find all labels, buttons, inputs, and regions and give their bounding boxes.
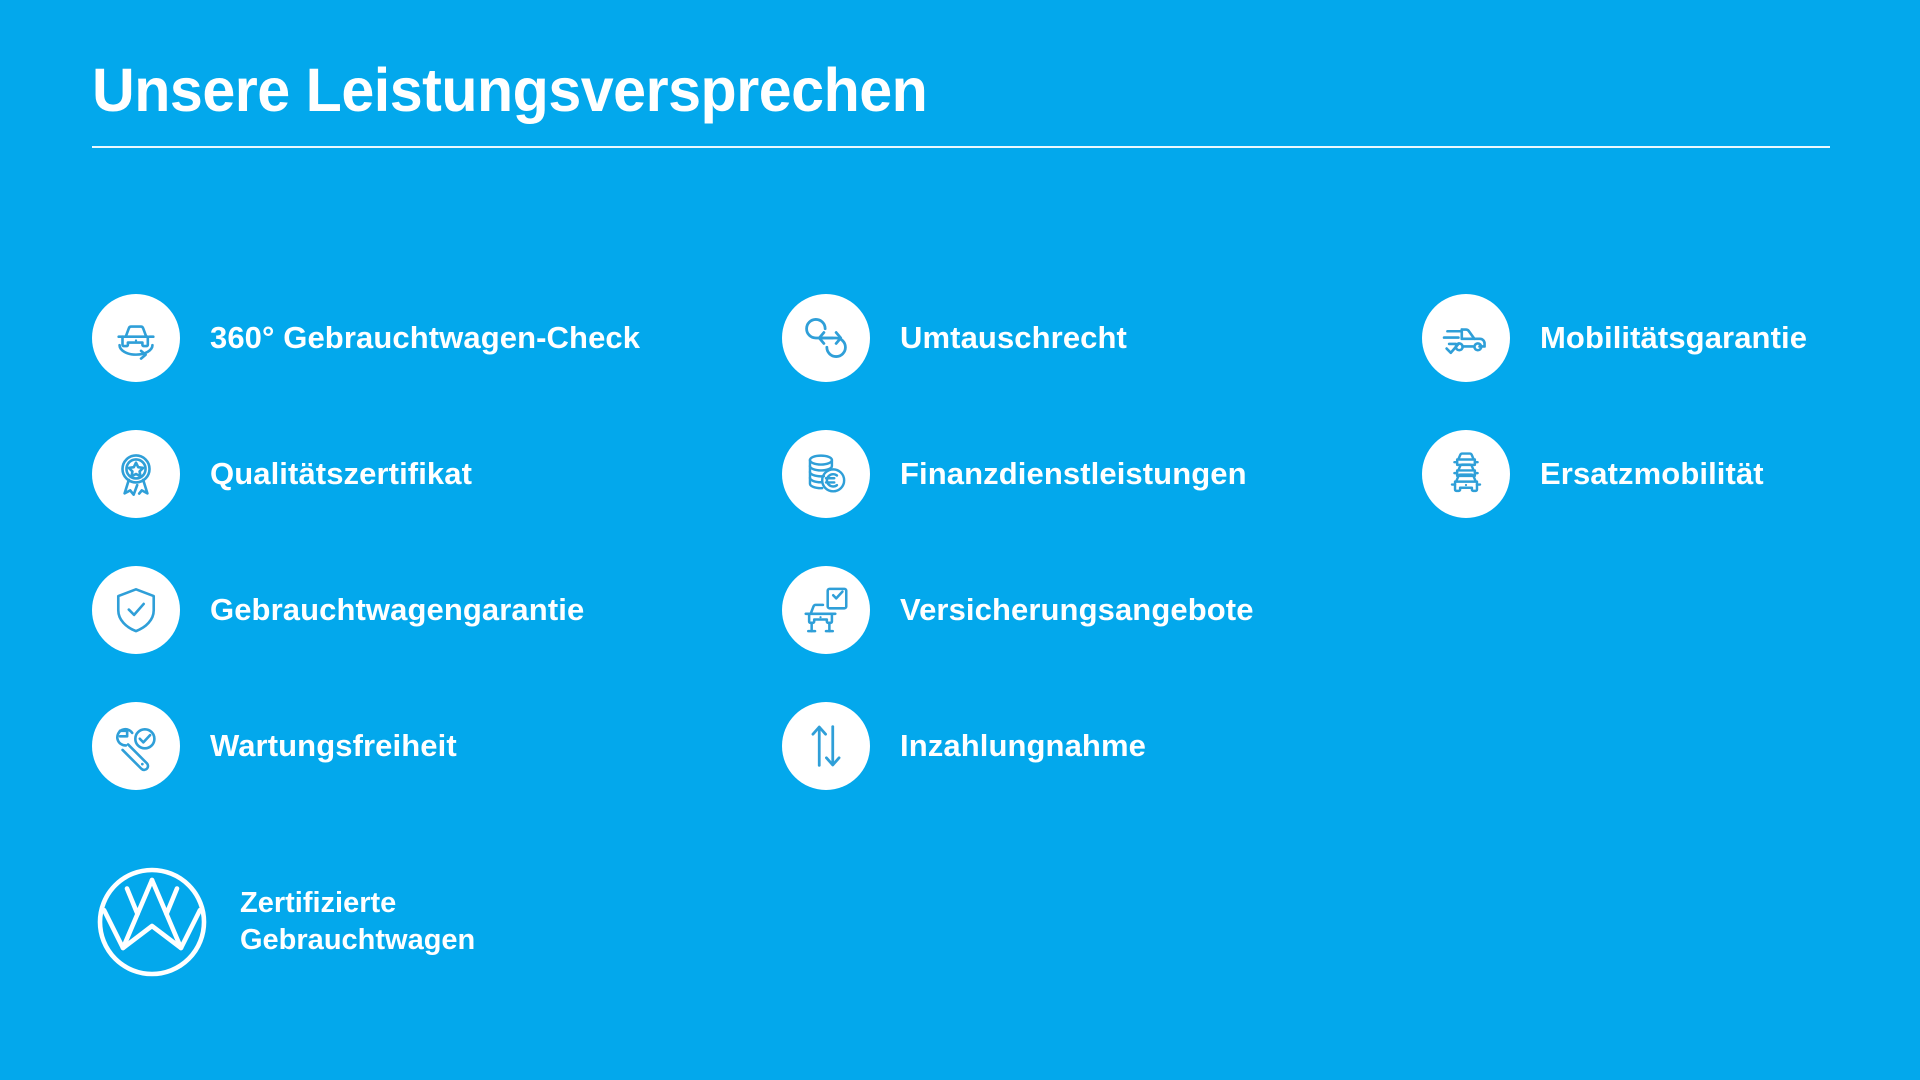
promise-item-wartungsfreiheit[interactable]: Wartungsfreiheit [92,678,782,814]
promise-grid: 360° Gebrauchtwagen-Check Qualitätszerti… [92,270,1882,814]
exchange-arrows-icon [782,294,870,382]
brand-lockup: Zertifizierte Gebrauchtwagen [92,862,475,982]
promise-item-umtauschrecht[interactable]: Umtauschrecht [782,270,1422,406]
promise-item-qualitaetszertifikat[interactable]: Qualitätszertifikat [92,406,782,542]
shield-check-icon [92,566,180,654]
promise-item-gebrauchtwagengarantie[interactable]: Gebrauchtwagengarantie [92,542,782,678]
promise-item-mobilitaetsgarantie[interactable]: Mobilitätsgarantie [1422,270,1882,406]
title-divider [92,146,1830,148]
promise-label: Umtauschrecht [900,320,1127,356]
promise-item-360-check[interactable]: 360° Gebrauchtwagen-Check [92,270,782,406]
up-down-arrows-icon [782,702,870,790]
coins-euro-icon [782,430,870,518]
car-motion-check-icon [1422,294,1510,382]
promise-label: Inzahlungnahme [900,728,1146,764]
brand-line-2: Gebrauchtwagen [240,922,475,959]
promise-label: Gebrauchtwagengarantie [210,592,584,628]
promise-label: Qualitätszertifikat [210,456,472,492]
promise-item-versicherungsangebote[interactable]: Versicherungsangebote [782,542,1422,678]
brand-text: Zertifizierte Gebrauchtwagen [240,885,475,959]
promise-label: Finanzdienstleistungen [900,456,1247,492]
wrench-check-icon [92,702,180,790]
car-clipboard-check-icon [782,566,870,654]
promise-label: Ersatzmobilität [1540,456,1764,492]
promise-column-3: Mobilitätsgarantie [1422,270,1882,542]
promise-item-finanzdienstleistungen[interactable]: Finanzdienstleistungen [782,406,1422,542]
award-ribbon-icon [92,430,180,518]
page-title: Unsere Leistungsversprechen [92,58,1778,122]
promise-slide: Unsere Leistungsversprechen [0,0,1920,1080]
promise-label: 360° Gebrauchtwagen-Check [210,320,640,356]
promise-item-inzahlungnahme[interactable]: Inzahlungnahme [782,678,1422,814]
header: Unsere Leistungsversprechen [92,58,1830,148]
promise-label: Mobilitätsgarantie [1540,320,1807,356]
brand-line-1: Zertifizierte [240,885,475,922]
promise-item-ersatzmobilitaet[interactable]: Ersatzmobilität [1422,406,1882,542]
car-360-check-icon [92,294,180,382]
promise-column-1: 360° Gebrauchtwagen-Check Qualitätszerti… [92,270,782,814]
promise-label: Versicherungsangebote [900,592,1254,628]
promise-label: Wartungsfreiheit [210,728,457,764]
promise-column-2: Umtauschrecht [782,270,1422,814]
two-cars-icon [1422,430,1510,518]
volkswagen-logo [92,862,212,982]
